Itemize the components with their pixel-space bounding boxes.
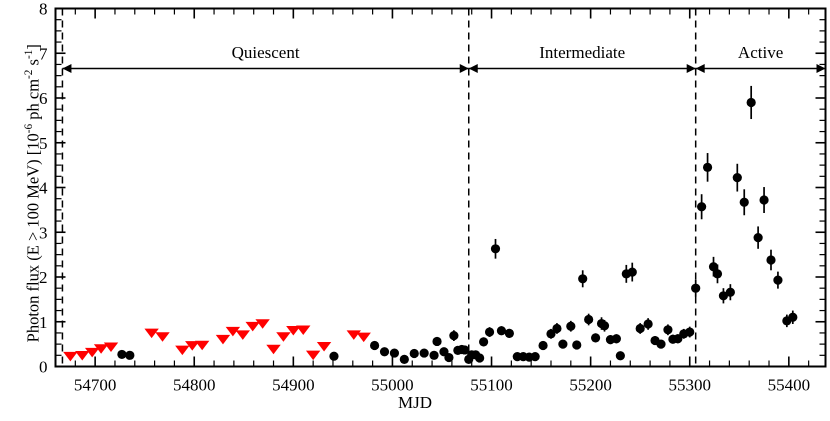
data-point <box>697 202 706 211</box>
data-point <box>600 321 609 330</box>
data-point <box>420 348 429 357</box>
data-point <box>740 198 749 207</box>
data-point <box>644 319 653 328</box>
upper-limit-marker <box>63 352 77 362</box>
data-point <box>449 331 458 340</box>
data-point <box>703 163 712 172</box>
x-tick-label: 55100 <box>470 376 513 395</box>
data-point <box>485 327 494 336</box>
data-point <box>410 349 419 358</box>
upper-limit-marker <box>276 332 290 342</box>
region-label-intermediate-arrowhead-right <box>687 64 696 73</box>
data-point <box>117 350 126 359</box>
upper-limit-marker <box>175 346 189 356</box>
data-point <box>538 341 547 350</box>
data-point <box>400 355 409 364</box>
data-point <box>691 284 700 293</box>
upper-limit-marker <box>317 342 331 352</box>
data-point <box>125 351 134 360</box>
x-tick-label: 54700 <box>74 376 117 395</box>
data-point <box>747 98 756 107</box>
data-point <box>788 313 797 322</box>
data-point <box>663 325 672 334</box>
upper-limit-marker <box>356 333 370 343</box>
upper-limit-marker <box>246 322 260 332</box>
x-tick-label: 55400 <box>768 376 811 395</box>
data-point <box>479 337 488 346</box>
data-point <box>552 324 561 333</box>
plot-area: 5470054800549005500055100552005530055400… <box>0 0 830 421</box>
data-point <box>773 276 782 285</box>
data-point <box>766 255 775 264</box>
data-point <box>636 324 645 333</box>
x-tick-label: 55200 <box>569 376 612 395</box>
data-point <box>628 267 637 276</box>
data-point <box>572 340 581 349</box>
region-label-intermediate-arrowhead-left <box>469 64 478 73</box>
data-point <box>733 173 742 182</box>
region-label-intermediate: Intermediate <box>539 43 625 62</box>
region-label-active-arrowhead-right <box>817 64 826 73</box>
data-point <box>370 341 379 350</box>
data-point <box>475 353 484 362</box>
data-point <box>616 351 625 360</box>
data-point <box>429 351 438 360</box>
data-point <box>612 334 621 343</box>
data-point <box>566 322 575 331</box>
data-point <box>497 326 506 335</box>
data-point <box>444 353 453 362</box>
upper-limit-marker <box>306 351 320 361</box>
x-tick-label: 54800 <box>173 376 216 395</box>
data-point <box>578 274 587 283</box>
x-tick-label: 54900 <box>272 376 315 395</box>
x-tick-label: 55000 <box>371 376 414 395</box>
plot-frame <box>56 9 826 367</box>
region-label-quiescent-arrowhead-left <box>62 64 71 73</box>
y-axis-label: Photon flux (E > 100 MeV) [10-6 ph cm-2 … <box>23 3 44 383</box>
upper-limit-marker <box>75 351 89 361</box>
upper-limit-marker <box>216 335 230 345</box>
region-label-active: Active <box>738 43 783 62</box>
region-label-quiescent: Quiescent <box>232 43 300 62</box>
upper-limit-marker <box>296 326 310 336</box>
data-point <box>584 315 593 324</box>
data-point <box>591 333 600 342</box>
data-point <box>754 233 763 242</box>
data-point <box>759 195 768 204</box>
region-label-active-arrowhead-left <box>696 64 705 73</box>
data-point <box>713 269 722 278</box>
data-point <box>656 340 665 349</box>
data-point <box>505 329 514 338</box>
x-axis-label: MJD <box>0 393 830 413</box>
data-point <box>558 340 567 349</box>
photon-flux-lightcurve-figure: 5470054800549005500055100552005530055400… <box>0 0 830 421</box>
data-point <box>329 352 338 361</box>
x-tick-label: 55300 <box>668 376 711 395</box>
upper-limit-marker <box>236 330 250 340</box>
upper-limit-marker <box>266 345 280 355</box>
data-point <box>491 244 500 253</box>
data-point <box>390 348 399 357</box>
upper-limit-marker <box>195 341 209 351</box>
data-point <box>726 288 735 297</box>
data-point <box>685 327 694 336</box>
data-point <box>531 352 540 361</box>
region-label-quiescent-arrowhead-right <box>460 64 469 73</box>
data-point <box>380 347 389 356</box>
upper-limit-marker <box>155 332 169 342</box>
data-point <box>432 337 441 346</box>
